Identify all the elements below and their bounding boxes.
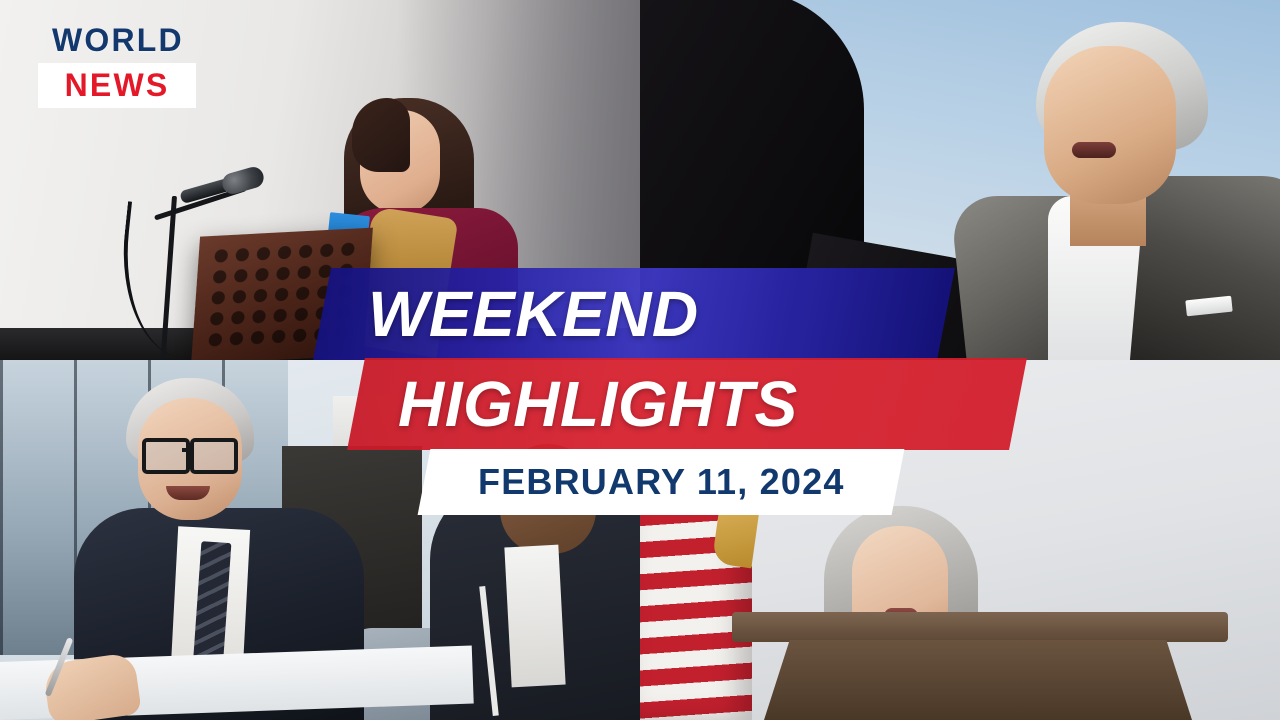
eyeglasses-bridge [182,448,192,452]
title-line-1: WEEKEND [368,282,699,346]
eyeglasses-left-lens [142,438,190,474]
podium-top [732,612,1228,642]
logo-news-box: NEWS [38,63,196,108]
news-graphic: WORLD NEWS WEEKEND HIGHLIGHTS FEBRUARY 1… [0,0,1280,720]
official-jacket-right [1130,176,1280,360]
world-news-logo[interactable]: WORLD NEWS [38,24,196,108]
official-face [1044,46,1176,204]
second-attendee-shirt [504,545,565,688]
broadcast-date: FEBRUARY 11, 2024 [478,464,845,500]
logo-word-world: WORLD [38,24,196,56]
title-line-2: HIGHLIGHTS [398,372,798,436]
logo-word-news: NEWS [65,67,170,103]
eyeglasses-right-lens [190,438,238,474]
official-mouth [1072,142,1116,158]
date-band[interactable]: FEBRUARY 11, 2024 [418,449,905,515]
podium-body [764,640,1192,720]
title-band-weekend[interactable]: WEEKEND [313,268,955,360]
title-band-highlights[interactable]: HIGHLIGHTS [347,358,1027,450]
speaker-hair-front [352,98,410,172]
